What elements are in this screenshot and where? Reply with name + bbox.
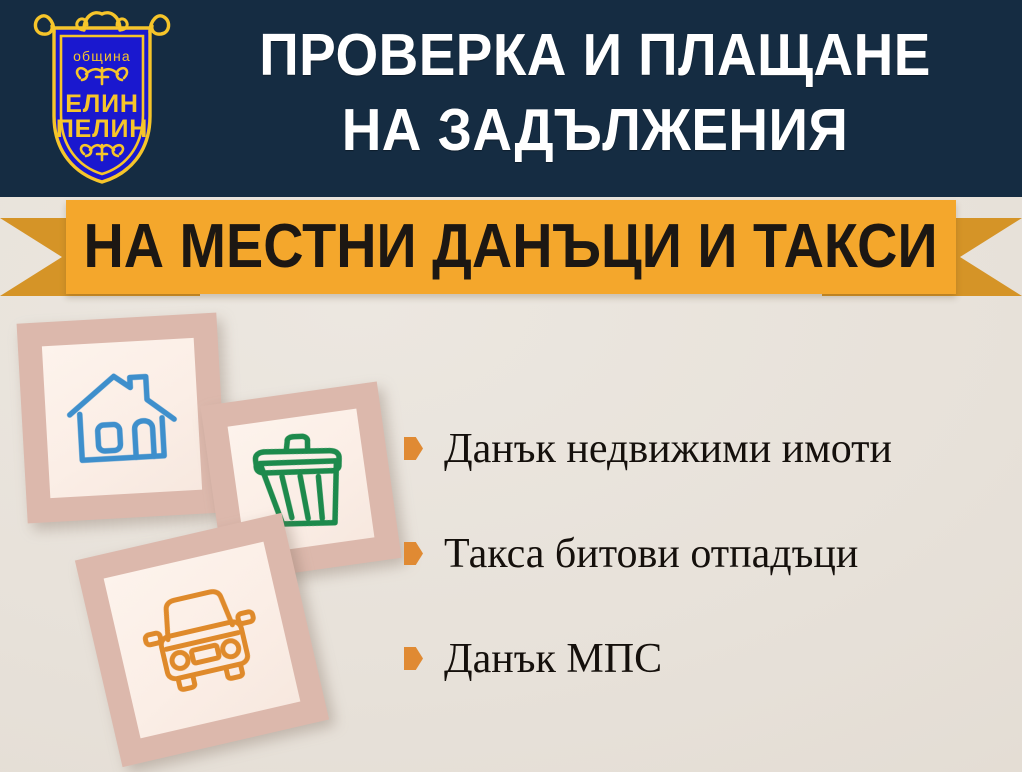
list-item-label: Такса битови отпадъци bbox=[444, 529, 858, 579]
arrow-bullet-icon bbox=[404, 542, 423, 565]
coat-of-arms-shield-icon: община ЕЛИН ПЕЛИН bbox=[28, 6, 176, 192]
house-icon bbox=[63, 365, 180, 471]
arrow-bullet-icon bbox=[404, 647, 423, 670]
stamp-card-house bbox=[17, 313, 228, 524]
ribbon-band: НА МЕСТНИ ДАНЪЦИ И ТАКСИ bbox=[66, 200, 956, 294]
page-title-line-1: ПРОВЕРКА И ПЛАЩАНЕ bbox=[215, 18, 976, 93]
list-item-label: Данък недвижими имоти bbox=[444, 424, 892, 474]
svg-text:ЕЛИН: ЕЛИН bbox=[65, 90, 138, 118]
svg-text:община: община bbox=[73, 48, 131, 64]
arrow-bullet-icon bbox=[404, 437, 423, 460]
list-item-label: Данък МПС bbox=[444, 634, 662, 684]
list-item: Данък МПС bbox=[404, 634, 1004, 684]
page-title-line-2: НА ЗАДЪЛЖЕНИЯ bbox=[215, 93, 976, 168]
ribbon-label: НА МЕСТНИ ДАНЪЦИ И ТАКСИ bbox=[84, 216, 938, 278]
stamp-face bbox=[42, 338, 202, 498]
page-title: ПРОВЕРКА И ПЛАЩАНЕ НА ЗАДЪЛЖЕНИЯ bbox=[186, 18, 1004, 168]
svg-text:ПЕЛИН: ПЕЛИН bbox=[56, 115, 148, 143]
list-item: Данък недвижими имоти bbox=[404, 424, 1004, 474]
car-front-icon bbox=[134, 580, 271, 700]
list-item: Такса битови отпадъци bbox=[404, 529, 1004, 579]
header-bar: община ЕЛИН ПЕЛИН bbox=[0, 0, 1022, 197]
subtitle-ribbon: НА МЕСТНИ ДАНЪЦИ И ТАКСИ bbox=[0, 196, 1022, 308]
tax-type-list: Данък недвижими имоти Такса битови отпад… bbox=[404, 424, 1004, 684]
poster-root: община ЕЛИН ПЕЛИН bbox=[0, 0, 1022, 772]
